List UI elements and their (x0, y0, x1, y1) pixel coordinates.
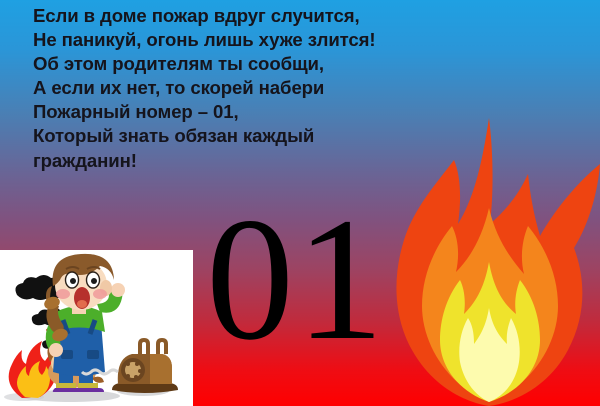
illustration-panel (0, 250, 193, 406)
poem-line: А если их нет, то скорей набери (33, 76, 453, 100)
poem-line: Не паникуй, огонь лишь хуже злится! (33, 28, 453, 52)
emergency-number: 01 (206, 192, 386, 368)
boy-calling-fire-illustration (0, 250, 193, 406)
fire-safety-poster: Если в доме пожар вдруг случится, Не пан… (0, 0, 600, 406)
flame-icon (378, 112, 600, 406)
poem-line: Об этом родителям ты сообщи, (33, 52, 453, 76)
flame-graphic (378, 112, 600, 406)
poem-line: Если в доме пожар вдруг случится, (33, 4, 453, 28)
